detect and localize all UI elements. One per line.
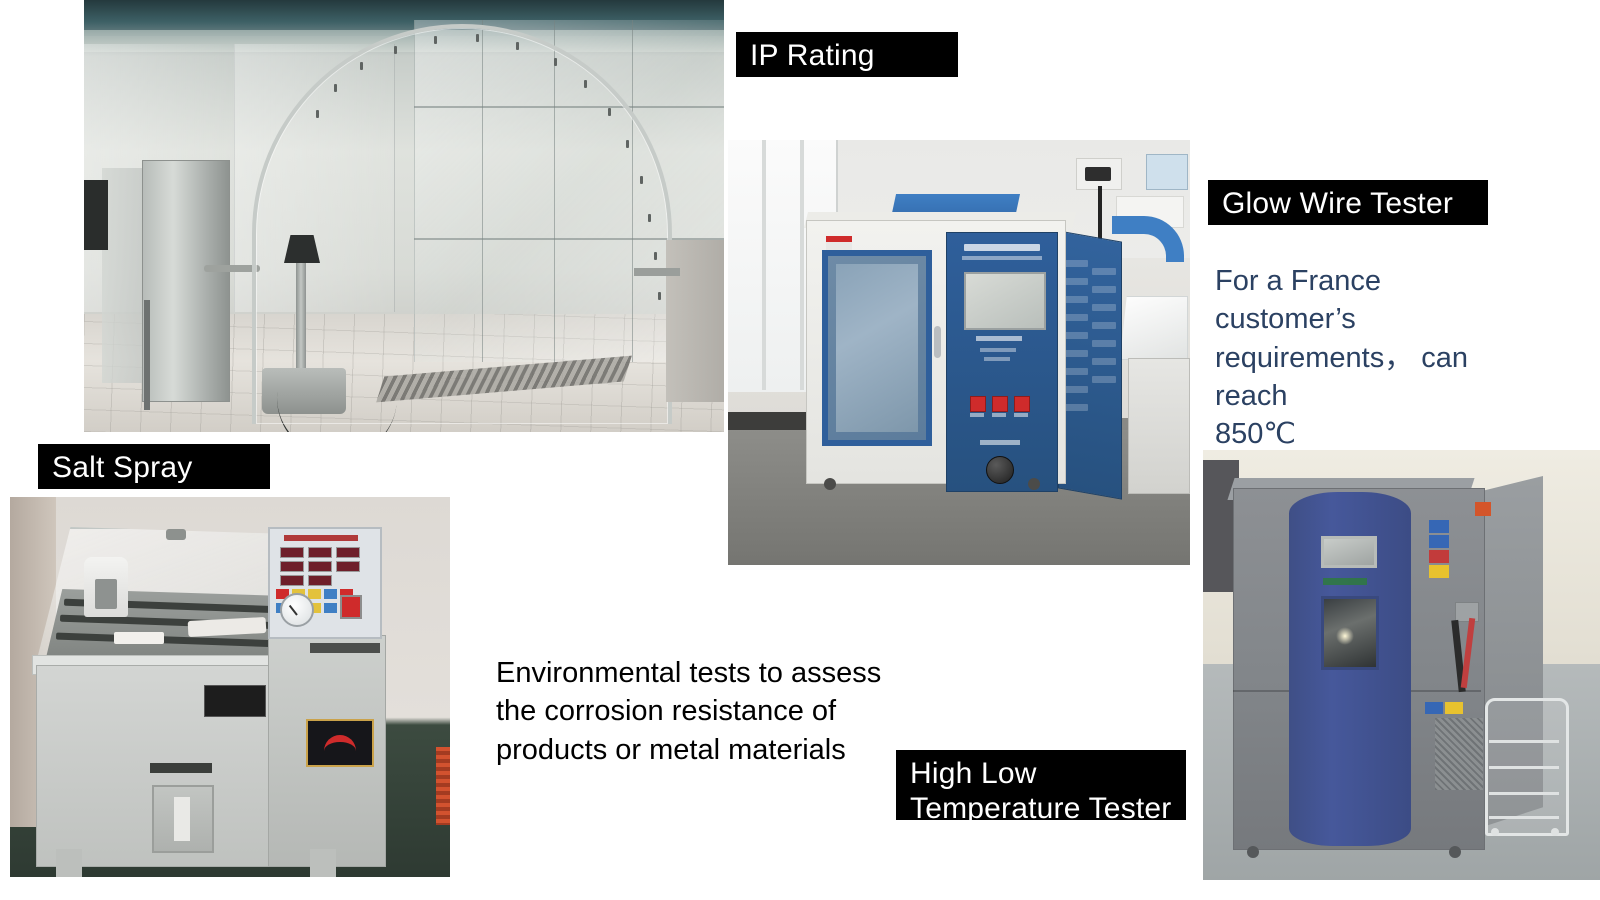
caption-salt-spray-test: Salt Spray Test	[38, 444, 270, 489]
salt-spray-note: Environmental tests to assess the corros…	[496, 654, 916, 769]
photo-ip-rating-tester	[84, 0, 724, 432]
caption-ip-rating-tester: IP Rating Tester	[736, 32, 958, 77]
glow-wire-note: For a France customer’s requirements， ca…	[1215, 262, 1515, 453]
photo-glow-wire-tester	[728, 140, 1190, 565]
slide-canvas: IP Rating Tester	[0, 0, 1600, 900]
photo-salt-spray-tester	[10, 497, 450, 877]
caption-high-low-temperature-tester: High Low Temperature Tester	[896, 750, 1186, 820]
photo-high-low-temperature-tester	[1203, 450, 1600, 880]
caption-glow-wire-tester: Glow Wire Tester	[1208, 180, 1488, 225]
